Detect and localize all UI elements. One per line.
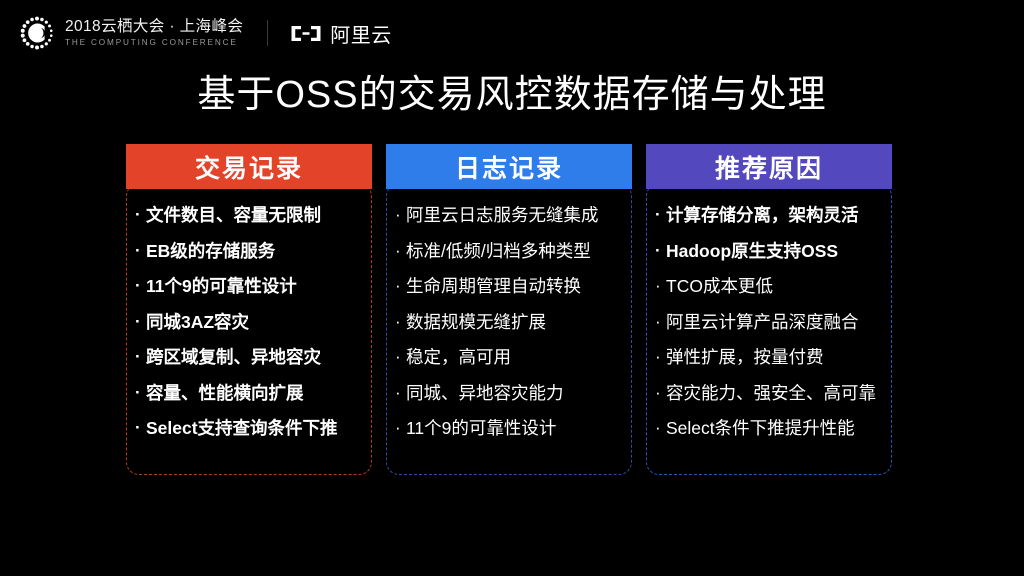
list-item: · 阿里云日志服务无缝集成 [395, 205, 625, 225]
list-item-label: Hadoop原生支持OSS [666, 241, 885, 261]
list-item: · 11个9的可靠性设计 [135, 276, 365, 296]
list-item-label: Select条件下推提升性能 [666, 418, 885, 438]
list-item: · 弹性扩展，按量付费 [655, 347, 885, 367]
list-item-label: 11个9的可靠性设计 [146, 276, 365, 296]
aliyun-logo: 阿里云 [290, 19, 392, 48]
bullet-icon: · [655, 241, 666, 261]
columns-container: 交易记录 · 文件数目、容量无限制 · EB级的存储服务 · 11个9的可靠性设… [126, 144, 892, 480]
conference-logo: 2018云栖大会 · 上海峰会 THE COMPUTING CONFERENCE [18, 14, 243, 52]
column-body-transaction-records: · 文件数目、容量无限制 · EB级的存储服务 · 11个9的可靠性设计 · 同… [126, 183, 372, 475]
bullet-icon: · [395, 276, 406, 296]
column-recommendation-reasons: 推荐原因 · 计算存储分离，架构灵活 · Hadoop原生支持OSS · TCO… [646, 144, 892, 480]
bullet-icon: · [395, 205, 406, 225]
list-item-label: 阿里云计算产品深度融合 [666, 312, 885, 332]
bullet-icon: · [135, 383, 146, 403]
bullet-icon: · [655, 383, 666, 403]
bullet-list-transaction-records: · 文件数目、容量无限制 · EB级的存储服务 · 11个9的可靠性设计 · 同… [135, 205, 365, 438]
list-item-label: 阿里云日志服务无缝集成 [406, 205, 625, 225]
list-item: · Hadoop原生支持OSS [655, 241, 885, 261]
bullet-icon: · [655, 347, 666, 367]
bullet-icon: · [395, 241, 406, 261]
bullet-icon: · [395, 347, 406, 367]
bullet-icon: · [655, 312, 666, 332]
list-item: · Select支持查询条件下推 [135, 418, 365, 438]
list-item-label: 容量、性能横向扩展 [146, 383, 365, 403]
bullet-icon: · [135, 418, 146, 438]
column-body-recommendation-reasons: · 计算存储分离，架构灵活 · Hadoop原生支持OSS · TCO成本更低 … [646, 183, 892, 475]
conference-title: 2018云栖大会 · 上海峰会 [65, 19, 243, 35]
list-item: · 阿里云计算产品深度融合 [655, 312, 885, 332]
brand-bar: 2018云栖大会 · 上海峰会 THE COMPUTING CONFERENCE… [0, 0, 1024, 66]
list-item: · 文件数目、容量无限制 [135, 205, 365, 225]
list-item: · 同城3AZ容灾 [135, 312, 365, 332]
list-item-label: 生命周期管理自动转换 [406, 276, 625, 296]
list-item-label: 文件数目、容量无限制 [146, 205, 365, 225]
list-item: · 同城、异地容灾能力 [395, 383, 625, 403]
column-log-records: 日志记录 · 阿里云日志服务无缝集成 · 标准/低频/归档多种类型 · 生命周期… [386, 144, 632, 480]
list-item-label: 同城3AZ容灾 [146, 312, 365, 332]
column-transaction-records: 交易记录 · 文件数目、容量无限制 · EB级的存储服务 · 11个9的可靠性设… [126, 144, 372, 480]
list-item: · EB级的存储服务 [135, 241, 365, 261]
list-item-label: 容灾能力、强安全、高可靠 [666, 383, 885, 403]
list-item: · 数据规模无缝扩展 [395, 312, 625, 332]
list-item-label: 稳定，高可用 [406, 347, 625, 367]
list-item: · 跨区域复制、异地容灾 [135, 347, 365, 367]
bullet-icon: · [135, 276, 146, 296]
brand-divider [267, 20, 268, 46]
list-item-label: 计算存储分离，架构灵活 [666, 205, 885, 225]
list-item: · 标准/低频/归档多种类型 [395, 241, 625, 261]
list-item-label: 同城、异地容灾能力 [406, 383, 625, 403]
bullet-icon: · [655, 276, 666, 296]
bullet-icon: · [395, 312, 406, 332]
list-item-label: 标准/低频/归档多种类型 [406, 241, 625, 261]
aliyun-bracket-icon [290, 23, 322, 44]
conference-text-block: 2018云栖大会 · 上海峰会 THE COMPUTING CONFERENCE [65, 19, 243, 47]
list-item-label: 数据规模无缝扩展 [406, 312, 625, 332]
list-item: · 生命周期管理自动转换 [395, 276, 625, 296]
bullet-icon: · [395, 418, 406, 438]
list-item: · Select条件下推提升性能 [655, 418, 885, 438]
bullet-list-recommendation-reasons: · 计算存储分离，架构灵活 · Hadoop原生支持OSS · TCO成本更低 … [655, 205, 885, 438]
bullet-icon: · [395, 383, 406, 403]
list-item-label: EB级的存储服务 [146, 241, 365, 261]
list-item: · 计算存储分离，架构灵活 [655, 205, 885, 225]
list-item: · 11个9的可靠性设计 [395, 418, 625, 438]
list-item-label: Select支持查询条件下推 [146, 418, 365, 438]
column-header-transaction-records: 交易记录 [126, 144, 372, 189]
slide-title: 基于OSS的交易风控数据存储与处理 [0, 72, 1024, 118]
list-item-label: 11个9的可靠性设计 [406, 418, 625, 438]
list-item: · 稳定，高可用 [395, 347, 625, 367]
conference-subtitle: THE COMPUTING CONFERENCE [65, 39, 243, 47]
list-item-label: 弹性扩展，按量付费 [666, 347, 885, 367]
bullet-icon: · [135, 241, 146, 261]
bullet-icon: · [135, 205, 146, 225]
conference-dotted-c-icon [18, 14, 56, 52]
list-item: · 容量、性能横向扩展 [135, 383, 365, 403]
bullet-icon: · [135, 347, 146, 367]
bullet-list-log-records: · 阿里云日志服务无缝集成 · 标准/低频/归档多种类型 · 生命周期管理自动转… [395, 205, 625, 438]
list-item-label: 跨区域复制、异地容灾 [146, 347, 365, 367]
column-header-log-records: 日志记录 [386, 144, 632, 189]
bullet-icon: · [135, 312, 146, 332]
list-item-label: TCO成本更低 [666, 276, 885, 296]
column-body-log-records: · 阿里云日志服务无缝集成 · 标准/低频/归档多种类型 · 生命周期管理自动转… [386, 183, 632, 475]
list-item: · TCO成本更低 [655, 276, 885, 296]
bullet-icon: · [655, 418, 666, 438]
column-header-recommendation-reasons: 推荐原因 [646, 144, 892, 189]
list-item: · 容灾能力、强安全、高可靠 [655, 383, 885, 403]
bullet-icon: · [655, 205, 666, 225]
aliyun-name: 阿里云 [330, 19, 392, 48]
